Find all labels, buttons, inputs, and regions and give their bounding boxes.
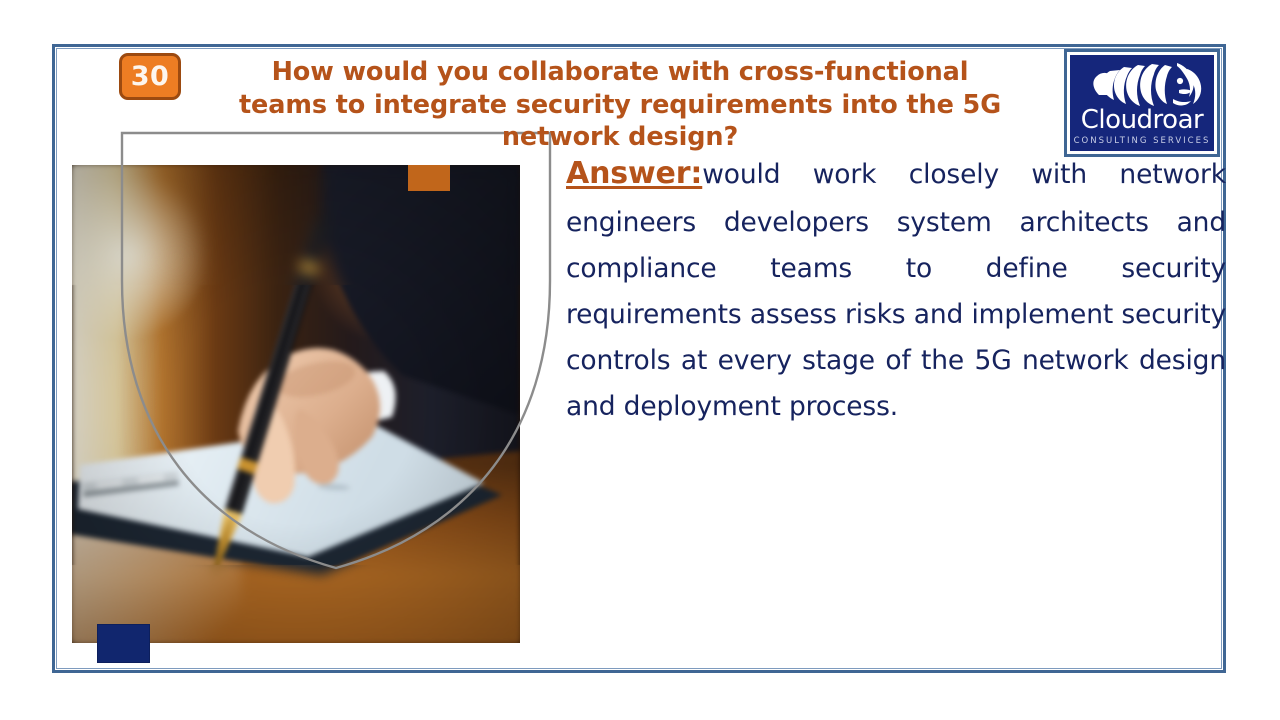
navy-accent-square	[97, 624, 150, 663]
slide: 30 How would you collaborate with cross-…	[0, 0, 1280, 720]
logo-wordmark: Cloudroar	[1070, 107, 1214, 133]
answer-section: Answer:would work closely with network e…	[566, 148, 1226, 430]
orange-accent-square	[408, 165, 450, 191]
question-title: How would you collaborate with cross-fun…	[226, 56, 1014, 154]
company-logo: Cloudroar CONSULTING SERVICES	[1064, 49, 1220, 157]
logo-tagline: CONSULTING SERVICES	[1070, 137, 1214, 146]
photo-canvas	[72, 165, 520, 643]
question-photo	[72, 165, 520, 643]
answer-text: would work closely with network engineer…	[566, 159, 1226, 422]
lion-head-icon	[1079, 59, 1205, 111]
question-number-badge: 30	[119, 53, 181, 100]
answer-label: Answer:	[566, 156, 702, 191]
answer-paragraph: Answer:would work closely with network e…	[566, 148, 1226, 430]
